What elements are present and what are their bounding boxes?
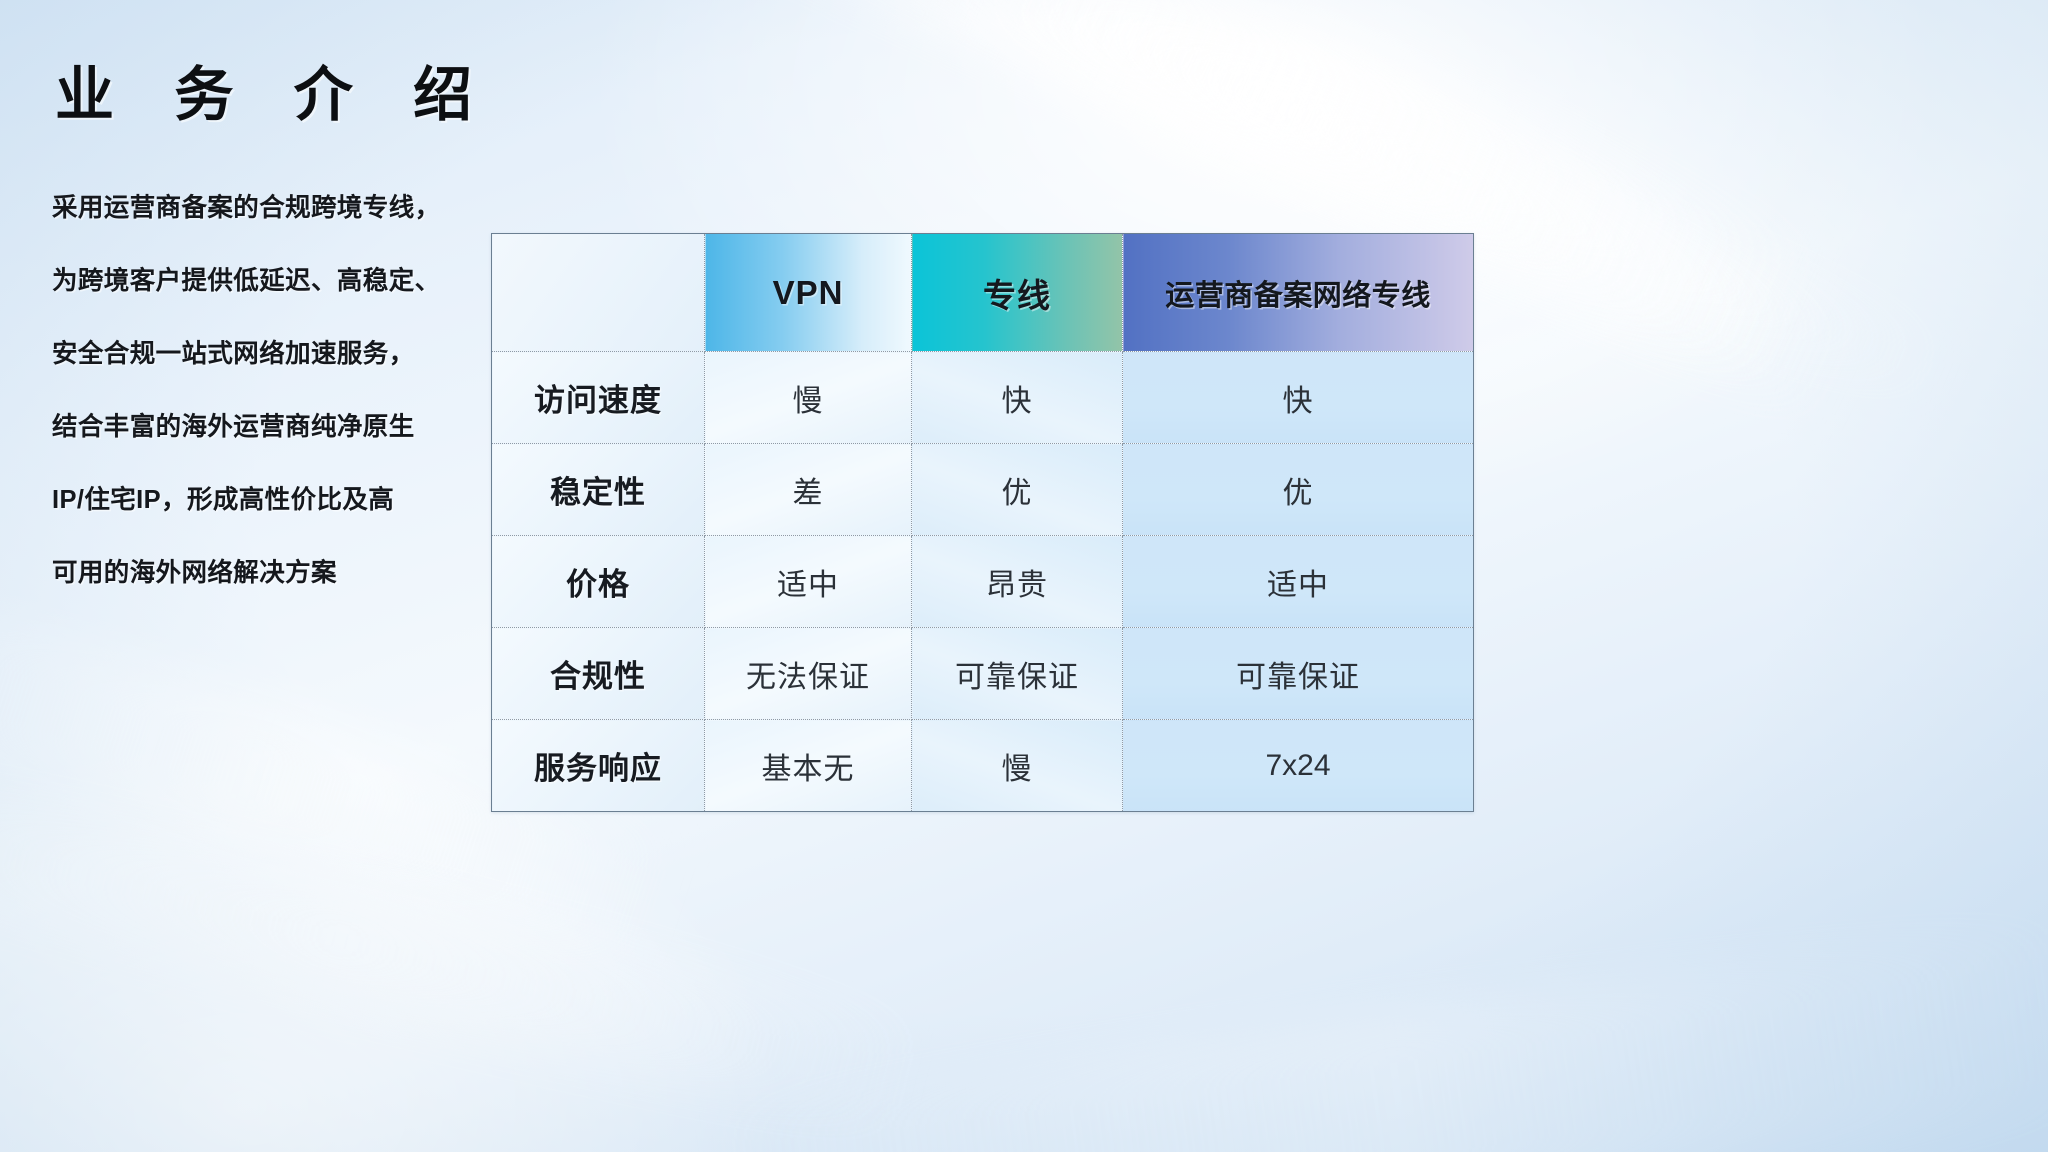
cell-carrier-line: 优 — [1123, 444, 1474, 536]
header-cell-dedicated-line: 专线 — [912, 234, 1123, 352]
cell-carrier-line: 快 — [1123, 352, 1474, 444]
header-label: 专线 — [983, 277, 1051, 314]
intro-line: 结合丰富的海外运营商纯净原生 — [52, 391, 472, 464]
cell-vpn: 适中 — [705, 536, 912, 628]
table-row: 访问速度 慢 快 快 — [492, 352, 1474, 444]
cell-value: 基本无 — [762, 753, 855, 786]
page-title: 业 务 介 绍 — [55, 47, 494, 132]
cell-vpn: 基本无 — [705, 720, 912, 812]
cell-value: 优 — [1002, 477, 1033, 510]
table-row: 合规性 无法保证 可靠保证 可靠保证 — [492, 628, 1474, 720]
header-label: 运营商备案网络专线 — [1165, 280, 1431, 312]
table-row: 价格 适中 昂贵 适中 — [492, 536, 1474, 628]
intro-paragraph: 采用运营商备案的合规跨境专线， 为跨境客户提供低延迟、高稳定、 安全合规一站式网… — [52, 172, 472, 610]
cell-value: 慢 — [793, 385, 824, 418]
table-row: 服务响应 基本无 慢 7x24 — [492, 720, 1474, 812]
row-label: 访问速度 — [534, 383, 662, 418]
cell-value: 快 — [1283, 385, 1314, 418]
row-label: 稳定性 — [550, 475, 646, 510]
comparison-table: VPN 专线 运营商备案网络专线 访问速度 慢 快 快 稳定性 差 优 优 — [491, 233, 1474, 812]
intro-line: 为跨境客户提供低延迟、高稳定、 — [52, 245, 472, 318]
cell-value: 适中 — [1267, 569, 1329, 602]
cell-dedicated-line: 昂贵 — [912, 536, 1123, 628]
cell-carrier-line: 7x24 — [1123, 720, 1474, 812]
cell-value: 快 — [1002, 385, 1033, 418]
table-header-row: VPN 专线 运营商备案网络专线 — [492, 234, 1474, 352]
cell-value: 无法保证 — [746, 661, 870, 694]
cell-value: 可靠保证 — [1236, 661, 1360, 694]
intro-line: 可用的海外网络解决方案 — [52, 537, 472, 610]
cell-dedicated-line: 慢 — [912, 720, 1123, 812]
header-label: VPN — [773, 274, 844, 311]
cell-vpn: 差 — [705, 444, 912, 536]
row-label: 价格 — [566, 567, 630, 602]
header-cell-empty — [492, 234, 705, 352]
row-label: 合规性 — [550, 659, 646, 694]
cell-value: 昂贵 — [986, 569, 1048, 602]
cell-value: 慢 — [1002, 753, 1033, 786]
cell-value: 差 — [793, 477, 824, 510]
header-cell-vpn: VPN — [705, 234, 912, 352]
row-label-cell: 服务响应 — [492, 720, 705, 812]
cell-carrier-line: 可靠保证 — [1123, 628, 1474, 720]
intro-line: 安全合规一站式网络加速服务， — [52, 318, 472, 391]
cell-value: 7x24 — [1265, 749, 1330, 782]
intro-line: IP/住宅IP，形成高性价比及高 — [52, 464, 472, 537]
table-row: 稳定性 差 优 优 — [492, 444, 1474, 536]
row-label-cell: 访问速度 — [492, 352, 705, 444]
intro-line: 采用运营商备案的合规跨境专线， — [52, 172, 472, 245]
row-label-cell: 稳定性 — [492, 444, 705, 536]
cell-vpn: 慢 — [705, 352, 912, 444]
row-label: 服务响应 — [534, 751, 662, 786]
cell-dedicated-line: 快 — [912, 352, 1123, 444]
cell-dedicated-line: 优 — [912, 444, 1123, 536]
cell-carrier-line: 适中 — [1123, 536, 1474, 628]
row-label-cell: 合规性 — [492, 628, 705, 720]
cell-value: 优 — [1283, 477, 1314, 510]
header-cell-carrier-line: 运营商备案网络专线 — [1123, 234, 1474, 352]
cell-value: 可靠保证 — [955, 661, 1079, 694]
cell-value: 适中 — [777, 569, 839, 602]
cell-vpn: 无法保证 — [705, 628, 912, 720]
row-label-cell: 价格 — [492, 536, 705, 628]
cell-dedicated-line: 可靠保证 — [912, 628, 1123, 720]
